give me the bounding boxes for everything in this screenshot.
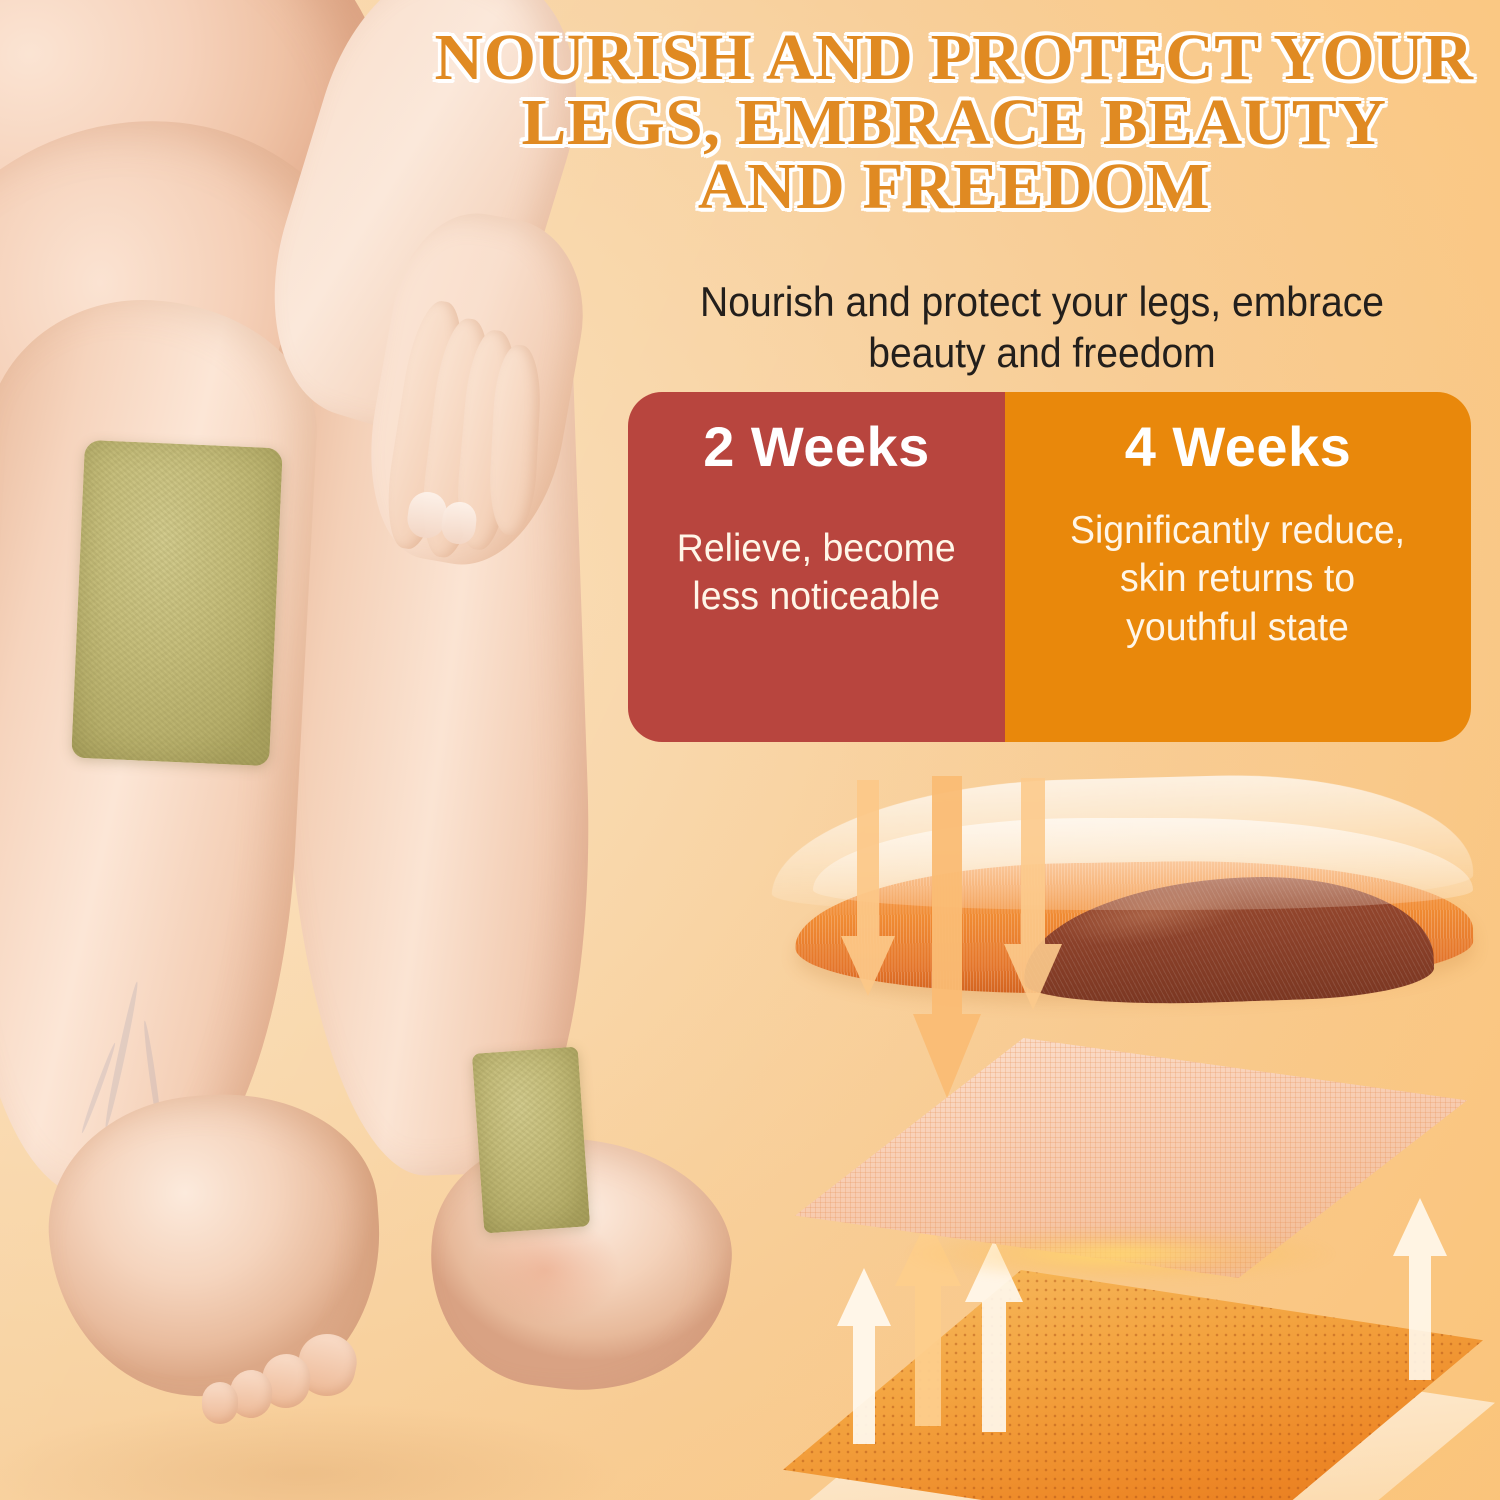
headline-line-2: LEGS, EMBRACE BEAUTY (407, 91, 1500, 156)
panel-title-4-weeks: 4 Weeks (1125, 418, 1352, 477)
panel-body-line: Relieve, become (677, 525, 956, 573)
arrow-up-icon (1389, 1198, 1451, 1380)
panel-body-line: less noticeable (677, 573, 956, 621)
headline-line-1: NOURISH AND PROTECT YOUR (407, 26, 1500, 91)
panel-body-line: skin returns to (1070, 555, 1405, 603)
panel-body-4-weeks: Significantly reduce, skin returns to yo… (1057, 507, 1419, 652)
results-timeline-card: 2 Weeks Relieve, become less noticeable … (628, 392, 1471, 742)
page-headline: NOURISH AND PROTECT YOUR LEGS, EMBRACE B… (407, 26, 1500, 220)
panel-title-2-weeks: 2 Weeks (703, 418, 930, 477)
panel-body-2-weeks: Relieve, become less noticeable (664, 525, 970, 622)
timeline-panel-4-weeks: 4 Weeks Significantly reduce, skin retur… (1005, 392, 1471, 742)
ankle-herbal-patch (472, 1047, 590, 1234)
panel-body-line: Significantly reduce, (1070, 507, 1405, 555)
legs-photo (0, 0, 780, 1500)
arrow-down-icon (907, 776, 987, 1098)
mesh-layer-glow (905, 1225, 1335, 1283)
toe (202, 1382, 238, 1424)
subtitle-line-1: Nourish and protect your legs, embrace (627, 276, 1457, 327)
timeline-panel-2-weeks: 2 Weeks Relieve, become less noticeable (628, 392, 1005, 742)
arrow-up-icon (833, 1268, 895, 1444)
patch-absorption-diagram (755, 770, 1500, 1470)
headline-line-3: AND FREEDOM (407, 155, 1500, 220)
toes (190, 1330, 370, 1426)
calf-herbal-patch (71, 440, 283, 766)
arrow-down-icon (999, 778, 1067, 1010)
infographic-canvas: NOURISH AND PROTECT YOUR LEGS, EMBRACE B… (0, 0, 1500, 1500)
arrow-down-icon (837, 780, 899, 996)
page-subtitle: Nourish and protect your legs, embrace b… (627, 276, 1457, 378)
panel-body-line: youthful state (1070, 604, 1405, 652)
subtitle-line-2: beauty and freedom (627, 327, 1457, 378)
